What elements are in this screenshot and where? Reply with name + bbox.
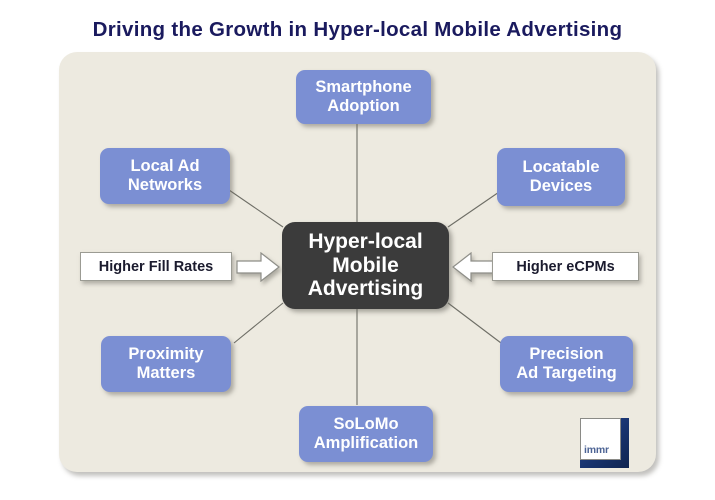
node-line-2: Networks xyxy=(128,176,202,194)
node-line-1: SoLoMo xyxy=(333,415,398,433)
center-node-line-3: Advertising xyxy=(308,277,424,300)
node-line-2: Devices xyxy=(530,177,592,195)
callout-higher-fill-rates[interactable]: Higher Fill Rates xyxy=(80,252,232,281)
node-line-2: Adoption xyxy=(327,97,399,115)
node-line-2: Amplification xyxy=(314,434,419,452)
node-line-1: Precision xyxy=(529,345,603,363)
node-line-2: Matters xyxy=(137,364,196,382)
node-precision-ad-targeting-label: Precision Ad Targeting xyxy=(516,345,617,383)
callout-higher-ecpms-label: Higher eCPMs xyxy=(516,259,614,275)
node-line-1: Smartphone xyxy=(315,78,411,96)
immr-logo-text: immr xyxy=(584,444,609,456)
node-locatable-devices-label: Locatable Devices xyxy=(522,158,599,196)
arrow-left-icon xyxy=(452,252,496,282)
node-proximity-matters-label: Proximity Matters xyxy=(128,345,203,383)
center-node-line-2: Mobile xyxy=(332,254,399,277)
center-node-label: Hyper-local Mobile Advertising xyxy=(308,230,424,302)
node-locatable-devices[interactable]: Locatable Devices xyxy=(497,148,625,206)
center-node-line-1: Hyper-local xyxy=(308,230,422,253)
node-line-1: Local Ad xyxy=(130,157,199,175)
node-smartphone-adoption-label: Smartphone Adoption xyxy=(315,78,411,116)
node-solomo-amplification-label: SoLoMo Amplification xyxy=(314,415,419,453)
node-line-1: Proximity xyxy=(128,345,203,363)
callout-higher-fill-rates-label: Higher Fill Rates xyxy=(99,259,213,275)
node-hyper-local-mobile-advertising[interactable]: Hyper-local Mobile Advertising xyxy=(282,222,449,309)
node-precision-ad-targeting[interactable]: Precision Ad Targeting xyxy=(500,336,633,392)
node-solomo-amplification[interactable]: SoLoMo Amplification xyxy=(299,406,433,462)
node-line-2: Ad Targeting xyxy=(516,364,617,382)
page-title: Driving the Growth in Hyper-local Mobile… xyxy=(0,18,715,42)
callout-higher-ecpms[interactable]: Higher eCPMs xyxy=(492,252,639,281)
node-proximity-matters[interactable]: Proximity Matters xyxy=(101,336,231,392)
node-local-ad-networks[interactable]: Local Ad Networks xyxy=(100,148,230,204)
node-line-1: Locatable xyxy=(522,158,599,176)
node-smartphone-adoption[interactable]: Smartphone Adoption xyxy=(296,70,431,124)
immr-logo: immr xyxy=(580,418,629,468)
arrow-right-icon xyxy=(236,252,280,282)
node-local-ad-networks-label: Local Ad Networks xyxy=(128,157,202,195)
